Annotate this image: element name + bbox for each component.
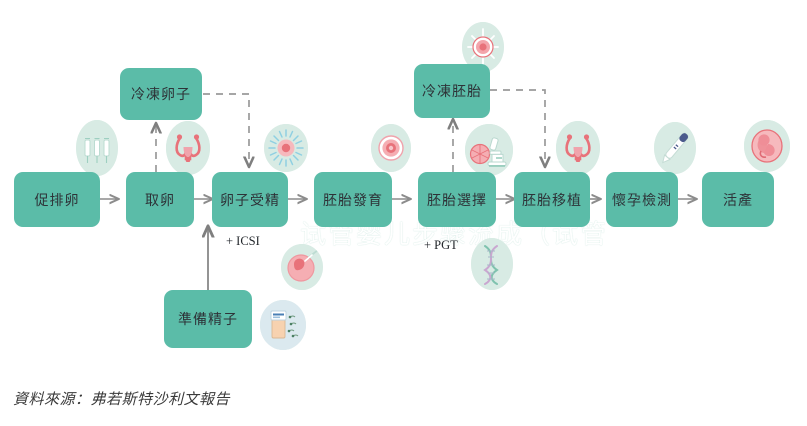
fertilized-egg-icon xyxy=(264,124,308,172)
flowchart-canvas: 试管婴儿步骤流成（试管 促排卵 取卵 卵子受精 胚胎發育 胚胎選擇 胚胎移植 懷… xyxy=(0,0,807,426)
flow-node-label: 活產 xyxy=(723,190,753,210)
flow-node-egg-retrieval[interactable]: 取卵 xyxy=(126,172,194,227)
microscope-icon xyxy=(465,124,513,176)
branch-node-frozen-embryo[interactable]: 冷凍胚胎 xyxy=(414,64,490,118)
uterus-icon xyxy=(166,121,210,175)
flow-node-ovulation-induction[interactable]: 促排卵 xyxy=(14,172,100,227)
flow-node-label: 懷孕檢測 xyxy=(612,190,672,210)
flow-node-live-birth[interactable]: 活產 xyxy=(702,172,774,227)
icsi-needle-icon xyxy=(281,244,323,290)
annotation-pgt-label: + PGT xyxy=(424,238,458,252)
branch-node-label: 冷凍胚胎 xyxy=(422,81,482,101)
flow-node-embryo-development[interactable]: 胚胎發育 xyxy=(314,172,392,227)
branch-node-sperm-preparation[interactable]: 準備精子 xyxy=(164,290,252,348)
flow-node-embryo-transfer[interactable]: 胚胎移植 xyxy=(514,172,590,227)
annotation-icsi-label: + ICSI xyxy=(226,234,260,248)
sperm-sample-icon xyxy=(260,300,306,350)
source-note: 資料來源：弗若斯特沙利文報告 xyxy=(13,388,230,409)
flow-node-embryo-selection[interactable]: 胚胎選擇 xyxy=(418,172,496,227)
dna-helix-icon xyxy=(471,238,513,290)
branch-node-label: 冷凍卵子 xyxy=(131,84,191,104)
flow-node-label: 取卵 xyxy=(145,190,175,210)
branch-node-frozen-eggs[interactable]: 冷凍卵子 xyxy=(120,68,202,120)
flow-node-pregnancy-test[interactable]: 懷孕檢測 xyxy=(606,172,678,227)
flow-node-label: 卵子受精 xyxy=(220,190,280,210)
annotation-pgt: + PGT xyxy=(424,238,458,253)
flow-node-label: 胚胎發育 xyxy=(323,190,383,210)
syringes-icon xyxy=(76,120,118,176)
uterus-transfer-icon xyxy=(556,121,600,175)
embryo-cell-icon xyxy=(371,124,411,172)
flow-node-egg-fertilization[interactable]: 卵子受精 xyxy=(212,172,288,227)
pregnancy-test-icon xyxy=(654,122,696,174)
fetus-icon xyxy=(744,120,790,172)
connector-layer xyxy=(0,0,807,426)
flow-node-label: 促排卵 xyxy=(35,190,80,210)
flow-node-label: 胚胎選擇 xyxy=(427,190,487,210)
flow-node-label: 胚胎移植 xyxy=(522,190,582,210)
branch-node-label: 準備精子 xyxy=(178,309,238,329)
annotation-icsi: + ICSI xyxy=(226,234,260,249)
